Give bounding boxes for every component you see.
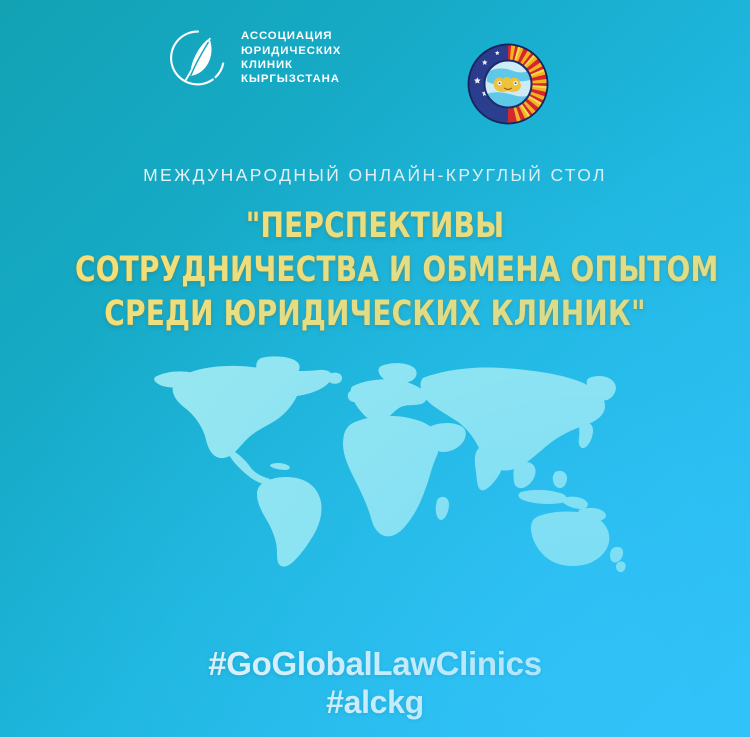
headline-line-2: СОТРУДНИЧЕСТВА И ОБМЕНА ОПЫТОМ xyxy=(75,248,675,292)
event-headline: "ПЕРСПЕКТИВЫ СОТРУДНИЧЕСТВА И ОБМЕНА ОПЫ… xyxy=(75,204,675,336)
dotted-world-map xyxy=(143,352,627,576)
hashtag-primary: #GoGlobalLawClinics xyxy=(0,645,750,683)
association-name-line-2: ЮРИДИЧЕСКИХ xyxy=(241,45,341,58)
circular-globe-emblem-icon xyxy=(466,42,550,126)
association-name-line-1: АССОЦИАЦИЯ xyxy=(241,30,341,43)
hashtag-block: #GoGlobalLawClinics #alckg xyxy=(0,645,750,721)
headline-line-1: "ПЕРСПЕКТИВЫ xyxy=(75,204,675,248)
poster-header: АССОЦИАЦИЯ ЮРИДИЧЕСКИХ КЛИНИК КЫРГЫЗСТАН… xyxy=(0,22,750,108)
poster-canvas: АССОЦИАЦИЯ ЮРИДИЧЕСКИХ КЛИНИК КЫРГЫЗСТАН… xyxy=(0,0,750,737)
headline-line-3: СРЕДИ ЮРИДИЧЕСКИХ КЛИНИК" xyxy=(75,292,675,336)
association-name-line-4: КЫРГЫЗСТАНА xyxy=(241,73,341,86)
association-name: АССОЦИАЦИЯ ЮРИДИЧЕСКИХ КЛИНИК КЫРГЫЗСТАН… xyxy=(241,29,341,87)
feather-quill-in-circle-icon xyxy=(168,28,228,88)
hashtag-secondary: #alckg xyxy=(0,683,750,721)
association-logo: АССОЦИАЦИЯ ЮРИДИЧЕСКИХ КЛИНИК КЫРГЫЗСТАН… xyxy=(168,28,341,88)
map-land-base xyxy=(154,356,625,572)
event-kicker: МЕЖДУНАРОДНЫЙ ОНЛАЙН-КРУГЛЫЙ СТОЛ xyxy=(0,165,750,186)
association-name-line-3: КЛИНИК xyxy=(241,59,341,72)
